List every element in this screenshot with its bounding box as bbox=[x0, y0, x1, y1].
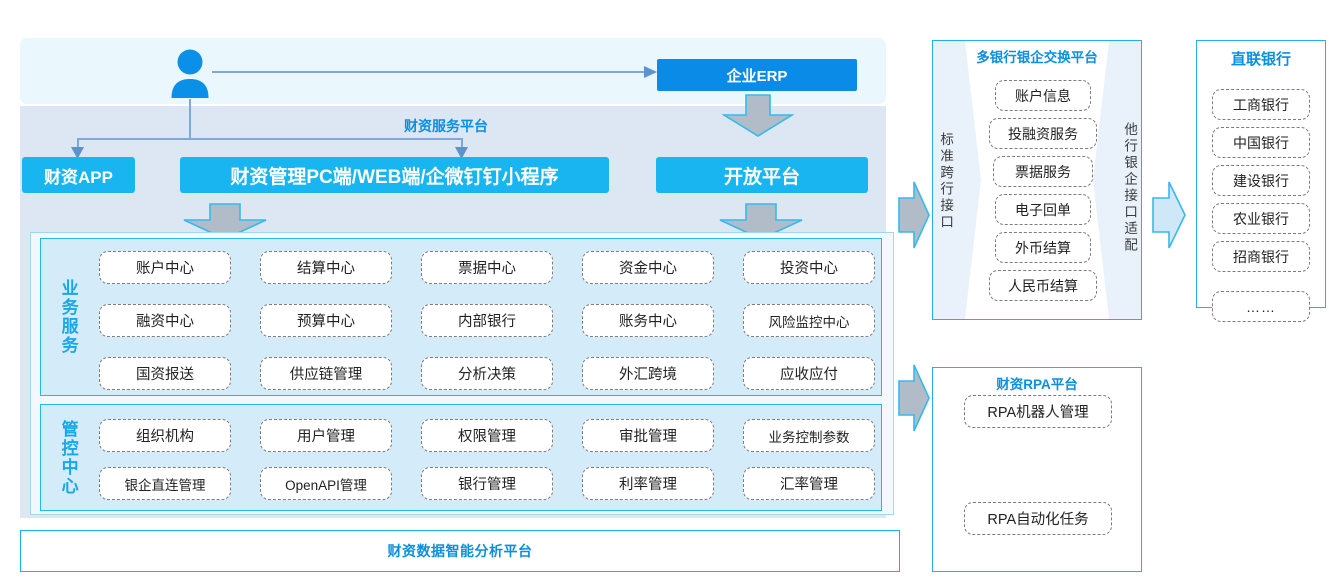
exchange-item[interactable]: 外币结算 bbox=[995, 232, 1091, 263]
exchange-item[interactable]: 人民币结算 bbox=[989, 270, 1097, 301]
management-cell[interactable]: 业务控制参数 bbox=[743, 419, 875, 452]
direct-bank-item[interactable]: 招商银行 bbox=[1212, 241, 1310, 272]
management-cell[interactable]: 组织机构 bbox=[99, 419, 231, 452]
service-cell[interactable]: 分析决策 bbox=[421, 357, 553, 390]
channel-button-app[interactable]: 财资APP bbox=[22, 157, 135, 193]
direct-bank-item[interactable]: 农业银行 bbox=[1212, 203, 1310, 234]
direct-bank-item[interactable]: 建设银行 bbox=[1212, 165, 1310, 196]
service-cell[interactable]: 结算中心 bbox=[260, 251, 392, 284]
other-bank-adapter-label: 他行银企接口适配 bbox=[1118, 80, 1140, 296]
service-cell[interactable]: 供应链管理 bbox=[260, 357, 392, 390]
exchange-item[interactable]: 投融资服务 bbox=[989, 118, 1097, 149]
channel-label-pc: 财资管理PC端/WEB端/企微钉钉小程序 bbox=[230, 162, 558, 189]
enterprise-erp-button[interactable]: 企业ERP bbox=[657, 59, 857, 91]
service-cell[interactable]: 预算中心 bbox=[260, 304, 392, 337]
rpa-item[interactable]: RPA机器人管理 bbox=[964, 395, 1112, 428]
channel-button-open-platform[interactable]: 开放平台 bbox=[656, 157, 868, 193]
analytics-platform-bar: 财资数据智能分析平台 bbox=[20, 530, 900, 572]
management-cell[interactable]: 审批管理 bbox=[582, 419, 714, 452]
connector-user-trunk bbox=[189, 99, 191, 139]
direct-bank-item[interactable]: 中国银行 bbox=[1212, 127, 1310, 158]
bank-exchange-platform-title: 多银行银企交换平台 bbox=[932, 46, 1142, 66]
enterprise-erp-label: 企业ERP bbox=[727, 65, 788, 86]
service-cell[interactable]: 应收应付 bbox=[743, 357, 875, 390]
architecture-diagram: 企业ERP 财资服务平台 财资APP 财资管理PC端/WEB端/企微钉钉小程序 … bbox=[0, 0, 1329, 580]
management-cell[interactable]: 银行管理 bbox=[421, 467, 553, 500]
service-cell[interactable]: 融资中心 bbox=[99, 304, 231, 337]
management-cell[interactable]: 银企直连管理 bbox=[99, 467, 231, 500]
person-icon bbox=[168, 47, 212, 99]
arrow-right-to-rpa-icon bbox=[898, 363, 930, 433]
channel-button-pc[interactable]: 财资管理PC端/WEB端/企微钉钉小程序 bbox=[180, 157, 609, 193]
analytics-platform-label: 财资数据智能分析平台 bbox=[388, 541, 533, 561]
channel-label-open-platform: 开放平台 bbox=[724, 162, 800, 189]
management-cell[interactable]: 利率管理 bbox=[582, 467, 714, 500]
direct-banks-title: 直联银行 bbox=[1196, 48, 1326, 69]
direct-bank-item[interactable]: 工商银行 bbox=[1212, 89, 1310, 120]
service-cell[interactable]: 投资中心 bbox=[743, 251, 875, 284]
rpa-platform-title: 财资RPA平台 bbox=[932, 373, 1142, 393]
service-cell[interactable]: 风险监控中心 bbox=[743, 304, 875, 337]
management-cell[interactable]: 权限管理 bbox=[421, 419, 553, 452]
service-cell[interactable]: 外汇跨境 bbox=[582, 357, 714, 390]
standard-interbank-interface-label: 标准跨行接口 bbox=[934, 88, 956, 274]
service-cell[interactable]: 账务中心 bbox=[582, 304, 714, 337]
arrow-down-erp-icon bbox=[722, 94, 794, 138]
arrow-right-to-direct-banks-icon bbox=[1152, 180, 1186, 250]
exchange-item[interactable]: 电子回单 bbox=[995, 194, 1091, 225]
connector-user-to-erp bbox=[212, 71, 652, 73]
rpa-item[interactable]: RPA自动化任务 bbox=[964, 502, 1112, 535]
business-services-label: 业务服务 bbox=[56, 252, 80, 382]
service-cell[interactable]: 票据中心 bbox=[421, 251, 553, 284]
management-cell[interactable]: 用户管理 bbox=[260, 419, 392, 452]
service-cell[interactable]: 资金中心 bbox=[582, 251, 714, 284]
connector-branch-horizontal bbox=[77, 138, 462, 140]
management-center-label: 管控中心 bbox=[56, 414, 80, 502]
management-cell[interactable]: 汇率管理 bbox=[743, 467, 875, 500]
channel-label-app: 财资APP bbox=[44, 163, 113, 188]
page-title: 财资服务平台 bbox=[404, 115, 604, 137]
exchange-item[interactable]: 票据服务 bbox=[993, 156, 1093, 187]
service-cell[interactable]: 内部银行 bbox=[421, 304, 553, 337]
arrow-right-to-exchange-icon bbox=[898, 180, 930, 250]
service-cell[interactable]: 账户中心 bbox=[99, 251, 231, 284]
service-cell[interactable]: 国资报送 bbox=[99, 357, 231, 390]
exchange-item[interactable]: 账户信息 bbox=[995, 80, 1091, 111]
management-cell[interactable]: OpenAPI管理 bbox=[260, 467, 392, 500]
direct-bank-item[interactable]: …… bbox=[1212, 291, 1310, 322]
